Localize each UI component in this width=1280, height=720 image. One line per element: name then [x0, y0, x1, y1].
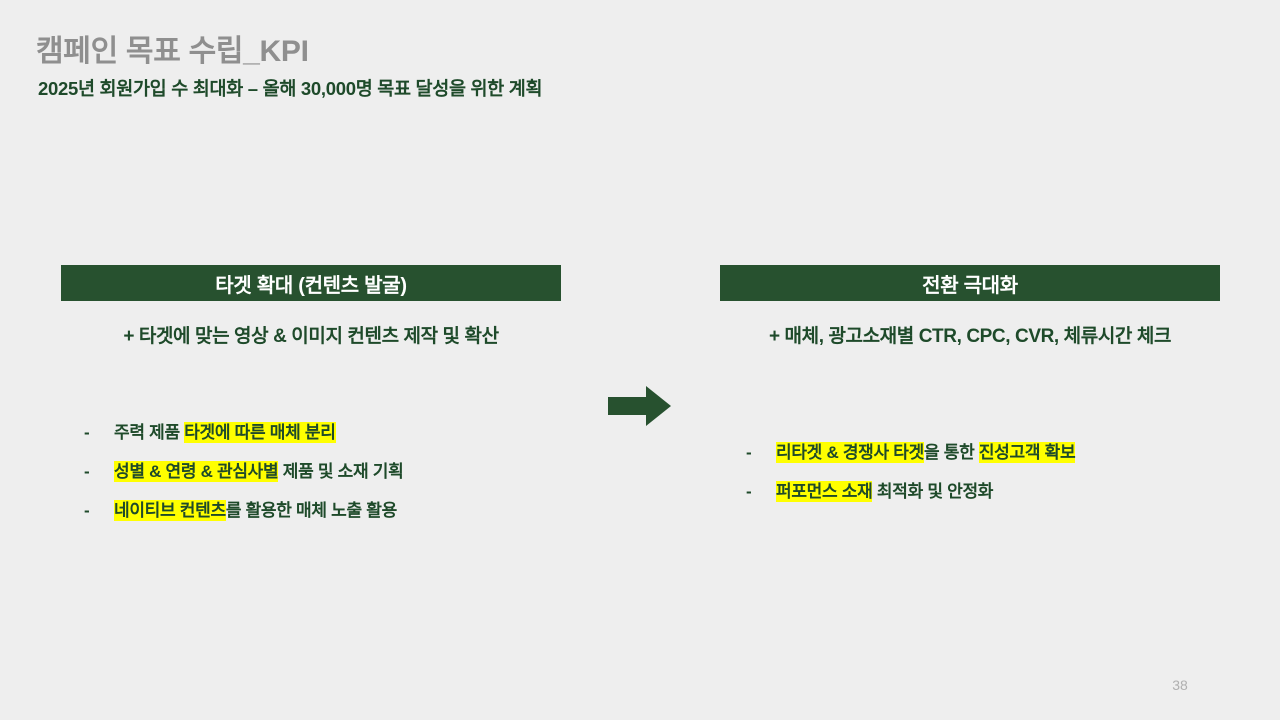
list-item: -주력 제품 타겟에 따른 매체 분리	[84, 418, 403, 443]
list-item-label: 리타겟 & 경쟁사 타겟을 통한 진성고객 확보	[776, 438, 1075, 463]
bullet-list-left: -주력 제품 타겟에 따른 매체 분리-성별 & 연령 & 관심사별 제품 및 …	[84, 418, 403, 535]
panel-left-header: 타겟 확대 (컨텐츠 발굴)	[61, 265, 561, 301]
list-item: -리타겟 & 경쟁사 타겟을 통한 진성고객 확보	[746, 438, 1075, 463]
panel-right-header-label: 전환 극대화	[922, 269, 1018, 298]
plain-text: 주력 제품	[114, 423, 184, 442]
bullet-dash: -	[84, 501, 114, 521]
highlighted-text: 타겟에 따른 매체 분리	[184, 422, 335, 443]
panel-right-lead: + 매체, 광고소재별 CTR, CPC, CVR, 체류시간 체크	[720, 321, 1220, 348]
highlighted-text: 네이티브 컨텐츠	[114, 500, 226, 521]
bullet-dash: -	[84, 462, 114, 482]
page-title: 캠페인 목표 수립_KPI	[36, 26, 309, 70]
bullet-dash: -	[746, 482, 776, 502]
list-item-label: 네이티브 컨텐츠를 활용한 매체 노출 활용	[114, 496, 397, 521]
list-item-label: 성별 & 연령 & 관심사별 제품 및 소재 기획	[114, 457, 403, 482]
bullet-list-right: -리타겟 & 경쟁사 타겟을 통한 진성고객 확보-퍼포먼스 소재 최적화 및 …	[746, 438, 1075, 516]
plain-text: 최적화 및 안정화	[872, 482, 993, 501]
plain-text: 을 통한	[924, 443, 979, 462]
panel-right-header: 전환 극대화	[720, 265, 1220, 301]
plain-text: 를 활용한 매체 노출 활용	[226, 501, 397, 520]
panel-left-lead: + 타겟에 맞는 영상 & 이미지 컨텐츠 제작 및 확산	[61, 321, 561, 348]
highlighted-text: 리타겟 & 경쟁사 타겟	[776, 442, 924, 463]
list-item: -네이티브 컨텐츠를 활용한 매체 노출 활용	[84, 496, 403, 521]
bullet-dash: -	[84, 423, 114, 443]
slide-canvas: 캠페인 목표 수립_KPI 2025년 회원가입 수 최대화 – 올해 30,0…	[0, 0, 1280, 720]
highlighted-text: 퍼포먼스 소재	[776, 481, 872, 502]
list-item: -퍼포먼스 소재 최적화 및 안정화	[746, 477, 1075, 502]
bullet-dash: -	[746, 443, 776, 463]
page-subtitle: 2025년 회원가입 수 최대화 – 올해 30,000명 목표 달성을 위한 …	[38, 75, 542, 101]
page-number: 38	[1160, 677, 1200, 693]
highlighted-text: 성별 & 연령 & 관심사별	[114, 461, 278, 482]
panel-left-header-label: 타겟 확대 (컨텐츠 발굴)	[215, 269, 406, 298]
list-item-label: 주력 제품 타겟에 따른 매체 분리	[114, 418, 336, 443]
panel-target-expansion: 타겟 확대 (컨텐츠 발굴) + 타겟에 맞는 영상 & 이미지 컨텐츠 제작 …	[61, 265, 561, 348]
list-item: -성별 & 연령 & 관심사별 제품 및 소재 기획	[84, 457, 403, 482]
panel-conversion-maximization: 전환 극대화 + 매체, 광고소재별 CTR, CPC, CVR, 체류시간 체…	[720, 265, 1220, 348]
plain-text: 제품 및 소재 기획	[278, 462, 403, 481]
arrow-right-icon	[608, 385, 672, 427]
list-item-label: 퍼포먼스 소재 최적화 및 안정화	[776, 477, 993, 502]
highlighted-text: 진성고객 확보	[979, 442, 1075, 463]
